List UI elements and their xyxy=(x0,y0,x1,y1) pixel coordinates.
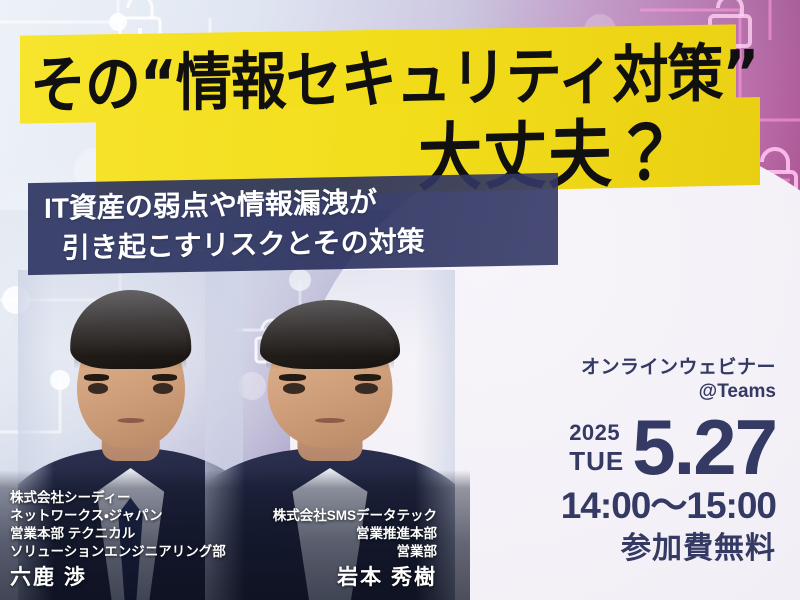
eyebrow-right xyxy=(152,374,177,381)
event-day-of-week: TUE xyxy=(569,448,624,474)
event-date: 5.27 xyxy=(632,412,776,484)
subtitle: IT資産の弱点や情報漏洩が 引き起こすリスクとその対策 xyxy=(44,179,564,268)
eyebrow-left xyxy=(84,374,109,381)
speaker-org-line: ネットワークス・ジャパン xyxy=(10,507,226,525)
speaker-org-line: 株式会社シーディー xyxy=(10,489,226,507)
speaker-credit-right: 株式会社SMSデータテック 営業推進本部 営業部 岩本 秀樹 xyxy=(232,507,437,592)
speaker-org-line: 営業本部 テクニカル xyxy=(10,525,226,543)
event-format-label: オンラインウェビナー xyxy=(476,356,776,380)
event-date-row: 2025 TUE 5.27 xyxy=(476,412,776,484)
event-platform: @Teams xyxy=(476,380,776,405)
speaker-org-line: 営業推進本部 xyxy=(232,525,437,543)
eyebrow-left xyxy=(279,374,307,381)
event-year: 2025 xyxy=(569,422,624,444)
webinar-banner: その“情報セキュリティ対策” 大丈夫？ IT資産の弱点や情報漏洩が 引き起こすリ… xyxy=(0,0,800,600)
event-time: 14:00〜15:00 xyxy=(476,486,776,527)
speaker-name: 六鹿 渉 xyxy=(10,564,226,592)
speaker-name: 岩本 秀樹 xyxy=(232,564,437,592)
hair-shape xyxy=(70,290,192,369)
event-fee-badge: 参加費無料 xyxy=(476,531,776,567)
event-date-meta: 2025 TUE xyxy=(569,422,624,484)
event-info: オンラインウェビナー @Teams 2025 TUE 5.27 14:00〜15… xyxy=(476,356,776,567)
eye-right xyxy=(355,383,378,394)
eye-left xyxy=(88,383,108,394)
eye-left xyxy=(283,383,306,394)
speaker-org-line: 株式会社SMSデータテック xyxy=(232,507,437,525)
speaker-credit-left: 株式会社シーディー ネットワークス・ジャパン 営業本部 テクニカル ソリューショ… xyxy=(10,489,226,592)
speaker-org-line: ソリューションエンジニアリング部 xyxy=(10,543,226,561)
hair-shape xyxy=(260,300,400,369)
speaker-org-line: 営業部 xyxy=(232,543,437,561)
eyebrow-right xyxy=(354,374,382,381)
eye-right xyxy=(153,383,173,394)
